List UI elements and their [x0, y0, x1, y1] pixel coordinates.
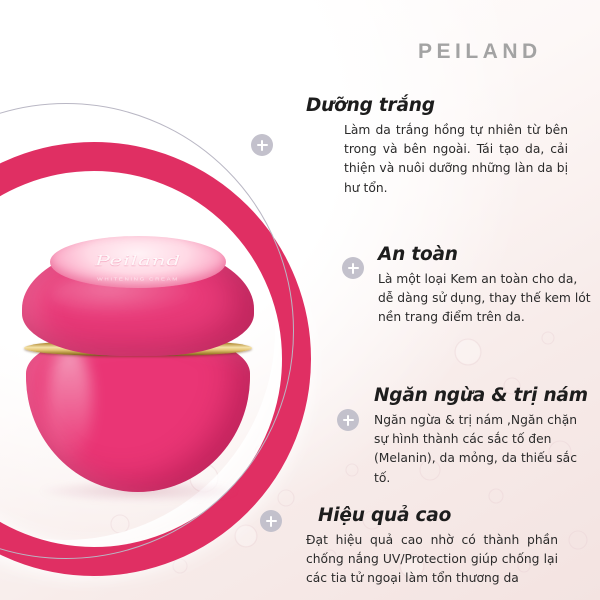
plus-icon-marker-2[interactable] [342, 257, 364, 279]
product-feature-poster: Peiland WHITENING CREAM PEILAND Dưỡng tr… [0, 0, 600, 600]
plus-icon-marker-1[interactable] [251, 134, 273, 156]
feature-body: Làm da trắng hồng tự nhiên từ bên trong … [344, 121, 568, 198]
feature-block-duong-trang: Dưỡng trắng Làm da trắng hồng tự nhiên t… [306, 95, 568, 198]
plus-icon-marker-3[interactable] [337, 409, 359, 431]
feature-body: Đạt hiệu quả cao nhờ có thành phần chống… [306, 531, 558, 589]
jar-base-highlight [48, 346, 92, 462]
plus-icon-marker-4[interactable] [260, 510, 282, 532]
brand-wordmark: PEILAND [418, 40, 542, 64]
jar-lid-subtext: WHITENING CREAM [50, 278, 226, 282]
jar-lid-top-face: Peiland WHITENING CREAM [50, 236, 226, 288]
feature-title: Dưỡng trắng [306, 95, 568, 116]
feature-title: Hiệu quả cao [318, 505, 568, 526]
feature-block-hieu-qua-cao: Hiệu quả cao Đạt hiệu quả cao nhờ có thà… [306, 505, 568, 589]
feature-body: Ngăn ngừa & trị nám ,Ngăn chặn sự hình t… [374, 411, 590, 488]
feature-title: An toàn [378, 244, 600, 265]
feature-title: Ngăn ngừa & trị nám [374, 385, 600, 406]
feature-body: Là một loại Kem an toàn cho da, dễ dàng … [378, 270, 592, 328]
product-jar: Peiland WHITENING CREAM [22, 236, 254, 494]
feature-block-ngan-ngua-tri-nam: Ngăn ngừa & trị nám Ngăn ngừa & trị nám … [374, 385, 600, 488]
feature-block-an-toan: An toàn Là một loại Kem an toàn cho da, … [378, 244, 600, 328]
jar-script-logo: Peiland [95, 253, 181, 269]
